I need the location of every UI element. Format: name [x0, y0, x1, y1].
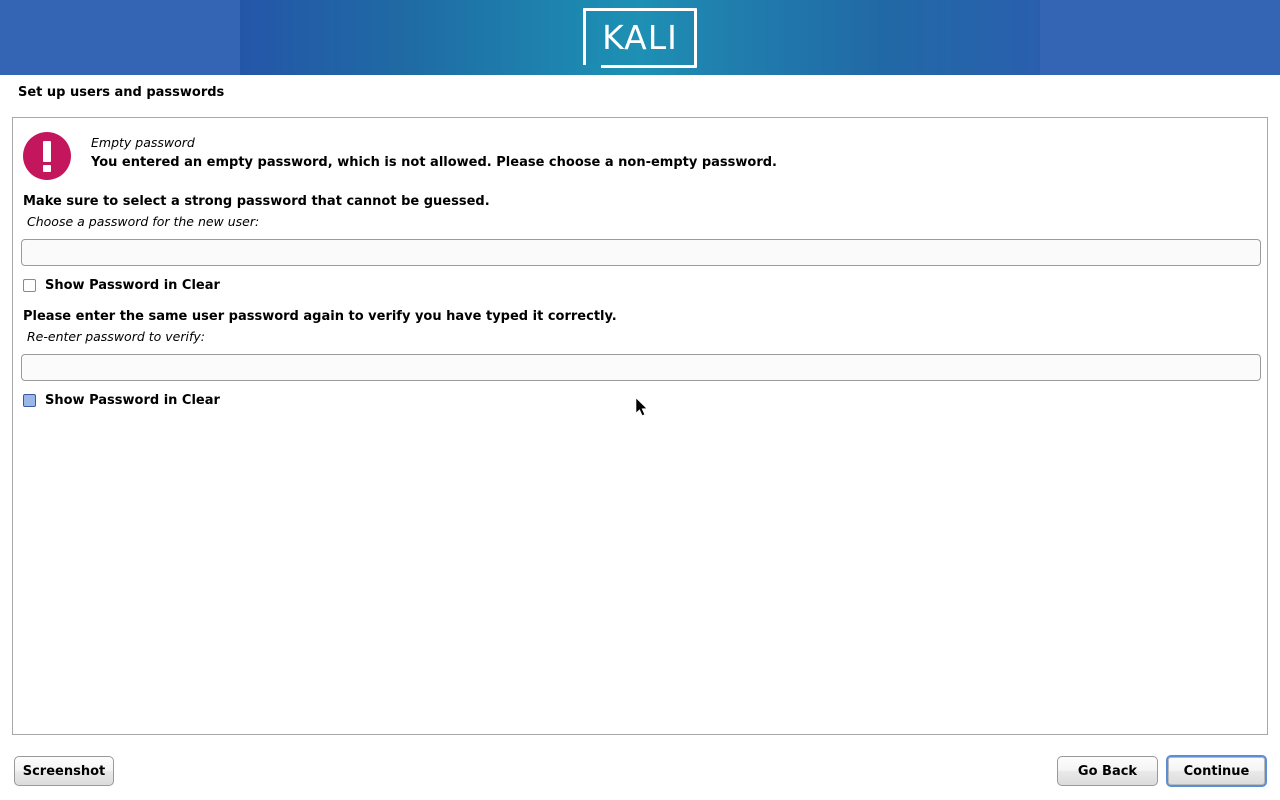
kali-logo: KALI: [583, 8, 697, 68]
show-password-label-2: Show Password in Clear: [45, 393, 220, 408]
show-password-checkbox-2[interactable]: [23, 394, 36, 407]
exclamation-dot: [43, 165, 51, 172]
alert-message: You entered an empty password, which is …: [91, 155, 777, 170]
exclamation-bar: [43, 141, 51, 162]
password-strength-hint: Make sure to select a strong password th…: [23, 194, 490, 209]
show-password-label-1: Show Password in Clear: [45, 278, 220, 293]
installer-window: KALI Set up users and passwords Empty pa…: [0, 0, 1280, 800]
show-password-checkbox-row-2[interactable]: Show Password in Clear: [23, 391, 220, 409]
password-input[interactable]: [21, 239, 1261, 266]
verify-field-label: Re-enter password to verify:: [27, 329, 205, 344]
error-exclamation-icon: [23, 132, 71, 180]
verify-password-input[interactable]: [21, 354, 1261, 381]
show-password-checkbox-1[interactable]: [23, 279, 36, 292]
page-title: Set up users and passwords: [18, 85, 224, 100]
verify-password-hint: Please enter the same user password agai…: [23, 309, 617, 324]
password-field-label: Choose a password for the new user:: [27, 214, 259, 229]
go-back-button[interactable]: Go Back: [1057, 756, 1158, 786]
kali-header-banner: KALI: [0, 0, 1280, 75]
screenshot-button[interactable]: Screenshot: [14, 756, 114, 786]
continue-button[interactable]: Continue: [1166, 755, 1267, 787]
show-password-checkbox-row-1[interactable]: Show Password in Clear: [23, 276, 220, 294]
kali-logo-text: KALI: [583, 8, 697, 68]
main-content-panel: Empty password You entered an empty pass…: [12, 117, 1268, 735]
alert-title: Empty password: [91, 135, 195, 150]
